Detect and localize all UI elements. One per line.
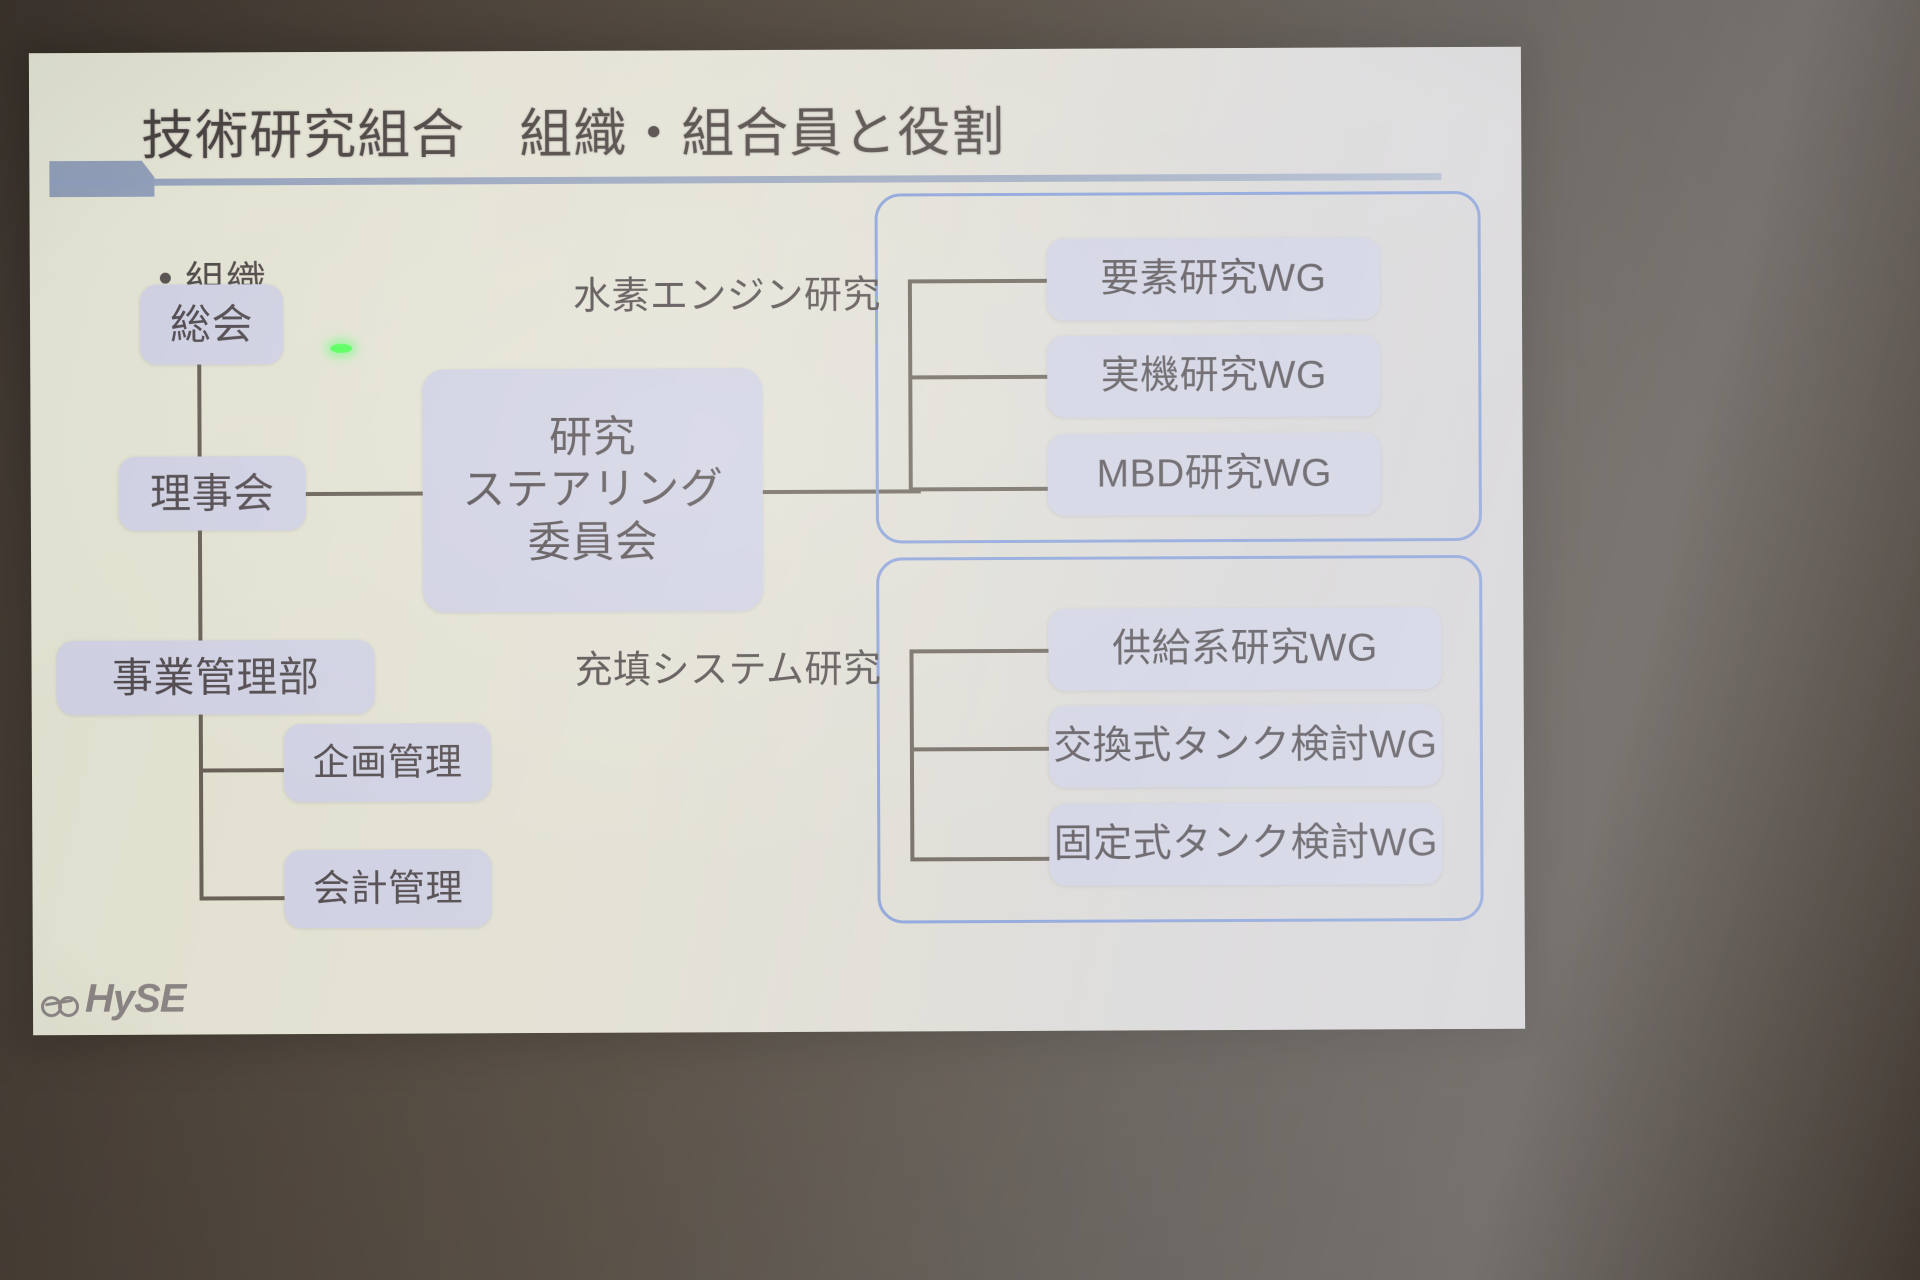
node-planning-management[interactable]: 企画管理 bbox=[284, 723, 491, 802]
node-business-management-dept[interactable]: 事業管理部 bbox=[56, 640, 374, 715]
node-board-of-directors-label: 理事会 bbox=[150, 468, 275, 519]
hyse-logo: HySE bbox=[41, 981, 186, 1018]
node-business-management-dept-label: 事業管理部 bbox=[112, 652, 320, 703]
node-element-research-wg-label: 要素研究WG bbox=[1100, 255, 1326, 304]
projection-screen: 技術研究組合 組織・組合員と役割 組織 総会 理事会 bbox=[29, 47, 1525, 1036]
node-supply-system-research-wg[interactable]: 供給系研究WG bbox=[1048, 607, 1441, 691]
group-filling-system-research-label: 充填システム研究 bbox=[574, 638, 881, 694]
hyse-logo-text: HySE bbox=[85, 981, 186, 1017]
connector-group1-to-wg2 bbox=[908, 375, 1053, 380]
node-swappable-tank-study-wg[interactable]: 交換式タンク検討WG bbox=[1049, 704, 1442, 788]
connector-group1-to-wg3 bbox=[909, 487, 1054, 492]
connector-group2-to-wg2 bbox=[910, 747, 1055, 752]
hyse-wheel-logo-icon bbox=[41, 991, 79, 1017]
node-board-of-directors[interactable]: 理事会 bbox=[119, 456, 306, 531]
node-planning-management-label: 企画管理 bbox=[312, 740, 462, 786]
connector-business-dept-spine bbox=[199, 707, 204, 901]
node-mbd-research-wg-label: MBD研究WG bbox=[1096, 450, 1332, 499]
bullet-dot-icon bbox=[160, 272, 171, 283]
connector-board-to-business-dept bbox=[198, 525, 203, 647]
connector-group2-to-wg1 bbox=[909, 649, 1054, 654]
group-hydrogen-engine-research-label: 水素エンジン研究 bbox=[573, 264, 881, 320]
slide-title: 技術研究組合 組織・組合員と役割 bbox=[141, 101, 1441, 166]
node-fixed-tank-study-wg-label: 固定式タンク検討WG bbox=[1054, 819, 1438, 868]
node-accounting-management-label: 会計管理 bbox=[313, 866, 463, 912]
node-research-steering-committee[interactable]: 研究 ステアリング 委員会 bbox=[422, 368, 763, 612]
node-element-research-wg[interactable]: 要素研究WG bbox=[1047, 237, 1380, 320]
node-general-meeting[interactable]: 総会 bbox=[140, 284, 283, 365]
node-actual-machine-research-wg-label: 実機研究WG bbox=[1101, 352, 1327, 401]
node-general-meeting-label: 総会 bbox=[170, 299, 253, 349]
steering-committee-line-1: 研究 bbox=[549, 411, 636, 464]
steering-committee-line-2: ステアリング bbox=[462, 463, 723, 517]
node-supply-system-research-wg-label: 供給系研究WG bbox=[1112, 625, 1378, 674]
steering-committee-line-3: 委員会 bbox=[528, 516, 659, 569]
node-accounting-management[interactable]: 会計管理 bbox=[284, 849, 491, 928]
node-actual-machine-research-wg[interactable]: 実機研究WG bbox=[1047, 334, 1380, 417]
connector-group1-to-wg1 bbox=[908, 279, 1053, 284]
node-swappable-tank-study-wg-label: 交換式タンク検討WG bbox=[1053, 721, 1437, 770]
connector-group2-to-wg3 bbox=[910, 857, 1055, 862]
laser-pointer-dot bbox=[330, 344, 352, 353]
node-mbd-research-wg[interactable]: MBD研究WG bbox=[1048, 432, 1381, 515]
node-fixed-tank-study-wg[interactable]: 固定式タンク検討WG bbox=[1049, 802, 1442, 886]
projected-slide-photo: 技術研究組合 組織・組合員と役割 組織 総会 理事会 bbox=[0, 0, 1920, 1280]
title-underline-rule bbox=[49, 173, 1441, 186]
connector-general-meeting-to-board bbox=[197, 365, 201, 465]
